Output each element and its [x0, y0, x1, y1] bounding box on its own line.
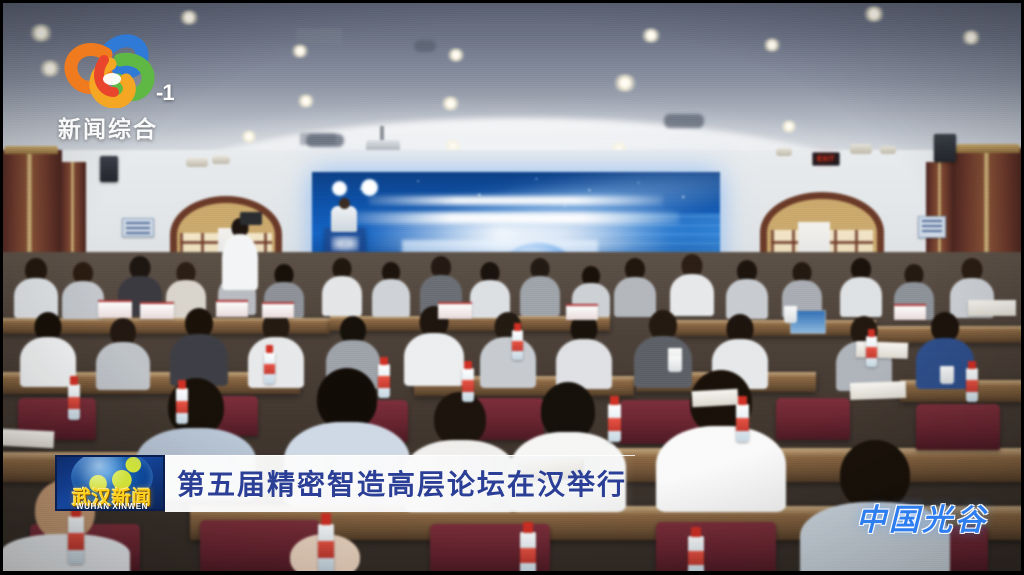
- wall-plaque-left: [122, 218, 154, 237]
- wall-sconce-right-a: [850, 144, 872, 154]
- ceiling-downlight: [240, 130, 258, 143]
- exit-sign: EXIT: [812, 152, 840, 166]
- paper-sheet: [856, 341, 909, 359]
- attendee: [170, 308, 228, 386]
- water-bottle: [318, 524, 334, 572]
- water-bottle: [68, 384, 80, 420]
- ceiling-downlight: [446, 48, 466, 62]
- paper-sheet: [0, 429, 54, 449]
- name-card: [262, 302, 294, 318]
- letterbox-bottom: [0, 571, 1024, 575]
- chair: [776, 398, 850, 440]
- name-card: [98, 300, 132, 318]
- ceiling-downlight: [178, 10, 200, 25]
- attendee: [556, 314, 612, 388]
- broadcast-frame: EXIT: [0, 0, 1024, 575]
- attendee: [322, 258, 362, 316]
- wall-plaque-right: [918, 216, 946, 238]
- ceiling-downlight: [780, 120, 798, 133]
- ceiling-downlight: [28, 24, 54, 42]
- letterbox-top: [0, 0, 1024, 3]
- attendee: [614, 258, 656, 318]
- ceiling-downlight: [640, 28, 662, 43]
- ceiling-downlight: [862, 6, 886, 22]
- attendee: [14, 258, 58, 316]
- wall-sconce-right-b: [880, 146, 896, 154]
- name-card: [894, 304, 926, 320]
- paper-cup: [784, 306, 797, 323]
- name-card: [140, 302, 174, 319]
- water-bottle: [462, 368, 474, 402]
- attendee: [20, 312, 76, 386]
- name-card: [216, 300, 248, 317]
- attendee: [840, 258, 882, 318]
- water-bottle: [264, 352, 275, 384]
- attendee: [480, 312, 536, 388]
- wall-speaker-left: [100, 156, 118, 182]
- water-bottle: [378, 364, 390, 398]
- chair-front: [656, 522, 776, 575]
- attendee: [520, 258, 560, 316]
- ceiling-spotlight: [414, 40, 436, 52]
- pilaster-capital-right: [956, 144, 1020, 153]
- name-card: [438, 302, 472, 319]
- pilaster-capital-left: [4, 146, 58, 154]
- ceiling-downlight: [296, 94, 316, 108]
- ceiling-downlight: [762, 38, 782, 52]
- ceiling-downlight: [290, 44, 310, 58]
- wall-sconce-mid: [212, 156, 230, 164]
- water-bottle: [512, 330, 523, 360]
- name-card: [566, 304, 598, 320]
- ceiling-downlight: [38, 60, 62, 77]
- ceiling-downlight: [960, 30, 982, 45]
- wall-sconce-left: [186, 158, 208, 167]
- wall-sconce-right-c: [776, 148, 792, 156]
- ceiling-downlight: [440, 96, 461, 111]
- water-bottle: [176, 388, 188, 424]
- program-logo-box: 武汉新闻 WUHAN XINWEN: [55, 455, 165, 511]
- ceiling-spotlight: [664, 114, 704, 128]
- paper-sheet: [850, 381, 907, 400]
- screen-title-line-1: [369, 196, 663, 205]
- water-bottle: [866, 336, 877, 367]
- paper-cup: [668, 356, 682, 372]
- speaker-torso: [331, 206, 357, 232]
- wall-speaker-right: [934, 134, 956, 162]
- water-bottle: [688, 536, 704, 575]
- speaker-head: [339, 198, 350, 209]
- program-logo-pinyin: WUHAN XINWEN: [57, 502, 165, 511]
- paper-cup: [940, 366, 954, 384]
- ceiling-downlight: [612, 74, 638, 92]
- water-bottle: [520, 532, 536, 575]
- attendee: [470, 262, 510, 318]
- video-camera: [240, 212, 262, 225]
- cameraman: [222, 218, 258, 290]
- ceiling-spotlight: [306, 134, 344, 147]
- attendee-foreground: [800, 440, 950, 575]
- water-bottle: [608, 404, 621, 442]
- attendee: [726, 260, 768, 318]
- water-bottle: [966, 368, 978, 402]
- attendee: [670, 254, 714, 316]
- letterbox-left: [0, 0, 3, 575]
- screen-logo-icon-a: [332, 181, 347, 196]
- paper-sheet: [968, 300, 1016, 316]
- ceiling-vent: [296, 28, 342, 44]
- water-bottle: [736, 404, 749, 442]
- headline-text: 第五届精密智造高层论坛在汉举行: [177, 455, 627, 511]
- water-bottle: [68, 516, 84, 564]
- paper-sheet: [692, 389, 739, 407]
